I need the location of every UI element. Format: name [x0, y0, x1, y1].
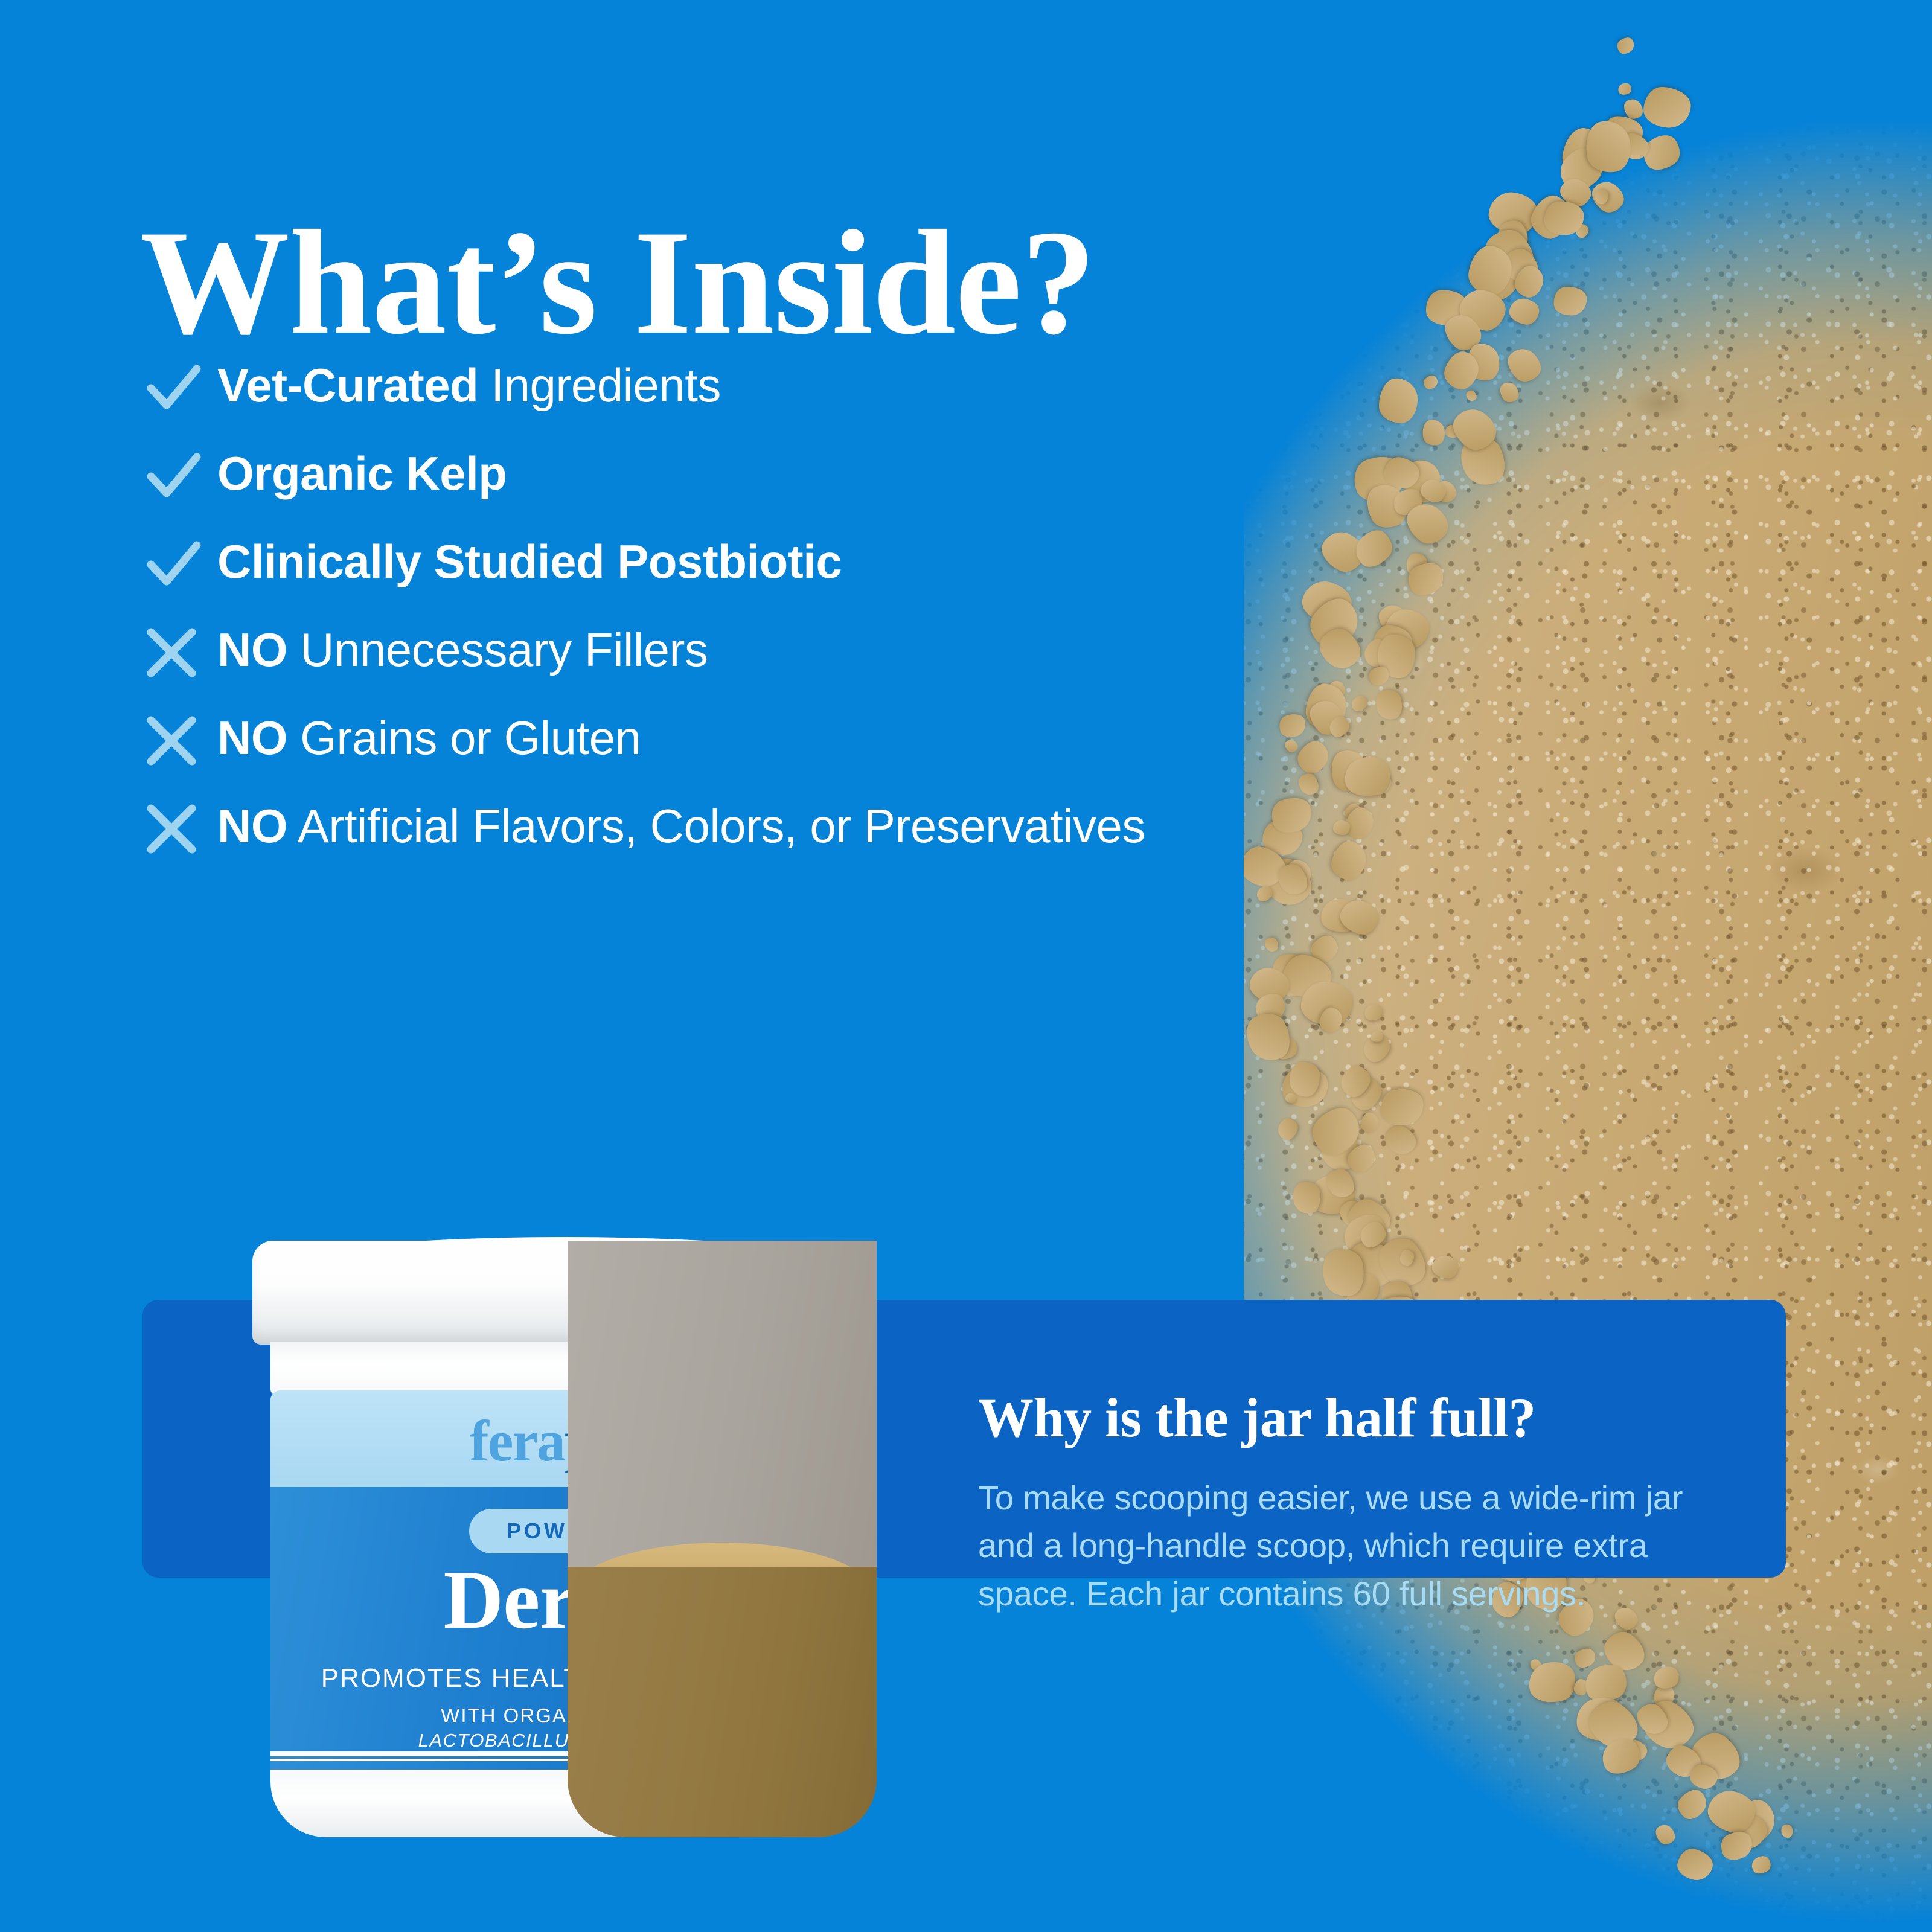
- powder-crumb: [1662, 1741, 1706, 1782]
- powder-crumb: [1524, 1657, 1580, 1707]
- powder-crumb: [1307, 930, 1343, 967]
- powder-crumb: [1582, 117, 1634, 176]
- powder-crumb: [1322, 1164, 1360, 1203]
- powder-crumb: [1381, 455, 1422, 491]
- benefit-label-emphasis: Clinically Studied Postbiotic: [217, 535, 842, 588]
- powder-crumb: [1370, 1030, 1384, 1043]
- powder-crumb: [1326, 713, 1353, 740]
- powder-crumb: [1502, 343, 1547, 388]
- powder-crumb: [1348, 693, 1369, 714]
- cutaway-powder-fill: [568, 1567, 877, 1837]
- powder-crumb: [1276, 1116, 1299, 1142]
- powder-crumb: [1360, 766, 1395, 798]
- powder-crumb: [1732, 1811, 1771, 1853]
- powder-crumb: [1254, 883, 1275, 904]
- powder-crumb: [1262, 935, 1281, 955]
- powder-crumb: [1313, 622, 1367, 676]
- powder-crumb: [1251, 989, 1290, 1025]
- promo-graphic: What’s Inside? Vet-Curated Ingredients O…: [0, 0, 1932, 1932]
- powder-crumb: [1356, 1217, 1391, 1252]
- powder-crumb: [1372, 686, 1406, 723]
- powder-crumb: [1282, 858, 1313, 892]
- powder-crumb: [1367, 530, 1384, 547]
- benefit-row: NO Unnecessary Fillers: [142, 621, 1278, 679]
- powder-crumb: [1244, 1006, 1298, 1068]
- powder-crumb: [1498, 243, 1546, 290]
- powder-crumb: [1420, 417, 1447, 447]
- powder-crumb: [1352, 901, 1366, 913]
- benefit-label-emphasis: Vet-Curated: [217, 359, 478, 412]
- powder-crumb: [1378, 1086, 1427, 1130]
- powder-crumb: [1360, 1112, 1380, 1133]
- powder-crumb: [1382, 606, 1431, 651]
- powder-crumb: [1526, 191, 1576, 244]
- powder-crumb: [1716, 1826, 1756, 1865]
- page-title: What’s Inside?: [140, 208, 1348, 357]
- benefit-label-emphasis: NO: [217, 623, 287, 676]
- powder-crumb: [1596, 1732, 1646, 1780]
- powder-crumb: [1496, 379, 1522, 405]
- powder-crumb: [1467, 252, 1524, 306]
- powder-crumb: [1464, 389, 1479, 403]
- powder-crumb: [1573, 1678, 1589, 1696]
- info-card-text: Why is the jar half full? To make scoopi…: [978, 1389, 1727, 1617]
- powder-crumb: [1285, 1093, 1296, 1103]
- powder-crumb: [1446, 401, 1503, 456]
- powder-crumb: [1704, 1786, 1759, 1836]
- powder-crumb: [1272, 859, 1314, 901]
- powder-crumb: [1453, 430, 1513, 493]
- powder-crumb: [1617, 130, 1652, 162]
- powder-crumb: [1602, 117, 1643, 152]
- check-icon: [142, 444, 217, 502]
- powder-crumb: [1305, 683, 1348, 732]
- powder-crumb: [1389, 484, 1427, 520]
- powder-crumb: [1457, 417, 1501, 459]
- x-icon: [142, 797, 217, 855]
- powder-crumb: [1335, 1195, 1373, 1233]
- powder-crumb: [1632, 1698, 1674, 1740]
- powder-crumb: [1508, 297, 1540, 326]
- powder-crumb: [1651, 1682, 1677, 1710]
- powder-crumb: [1342, 804, 1377, 842]
- brand-logo-part1: fera: [470, 1409, 565, 1473]
- powder-crumb: [1267, 950, 1314, 1000]
- info-card-body: To make scooping easier, we use a wide-r…: [978, 1474, 1727, 1618]
- powder-crumb: [1399, 1249, 1415, 1267]
- powder-crumb: [1614, 34, 1637, 57]
- powder-crumb: [1343, 1139, 1380, 1177]
- powder-crumb: [1456, 286, 1509, 334]
- benefit-label-emphasis: Organic Kelp: [217, 447, 507, 500]
- powder-crumb: [1328, 616, 1342, 629]
- info-card-title: Why is the jar half full?: [978, 1389, 1727, 1447]
- powder-crumb: [1494, 216, 1534, 257]
- powder-crumb: [1361, 635, 1394, 670]
- benefit-row: NO Grains or Gluten: [142, 709, 1278, 767]
- powder-crumb: [1689, 1763, 1719, 1791]
- powder-crumb: [1574, 223, 1589, 240]
- powder-crumb: [1246, 964, 1292, 1006]
- powder-crumb: [1300, 981, 1353, 1026]
- powder-crumb: [1290, 1179, 1323, 1215]
- powder-crumb: [1316, 526, 1370, 578]
- powder-crumb: [1723, 1792, 1783, 1853]
- powder-crumb: [1279, 952, 1335, 1002]
- powder-crumb: [1419, 478, 1448, 504]
- powder-crumb: [1620, 95, 1646, 123]
- powder-crumb: [1302, 590, 1366, 656]
- benefit-label-emphasis: NO: [217, 711, 287, 764]
- powder-crumb: [1379, 379, 1418, 423]
- powder-crumb: [1572, 1645, 1599, 1671]
- powder-crumb: [1320, 1127, 1360, 1172]
- powder-crumb: [1279, 1064, 1331, 1110]
- benefit-label: Vet-Curated Ingredients: [217, 356, 721, 414]
- powder-crumb: [1556, 174, 1596, 211]
- powder-crumb: [1616, 81, 1633, 97]
- powder-crumb: [1399, 497, 1455, 551]
- powder-crumb: [1349, 524, 1399, 574]
- powder-crumb: [1581, 1694, 1646, 1756]
- powder-crumb: [1360, 478, 1413, 535]
- powder-crumb: [1319, 1245, 1370, 1301]
- powder-crumb: [1573, 1695, 1629, 1744]
- powder-crumb: [1295, 770, 1322, 799]
- powder-crumb: [1328, 838, 1370, 884]
- powder-crumb: [1276, 711, 1309, 741]
- powder-crumb: [1365, 662, 1392, 689]
- powder-crumb: [1595, 189, 1608, 205]
- powder-crumb: [1326, 746, 1373, 797]
- powder-crumb: [1438, 308, 1488, 357]
- powder-grain-texture: [1244, 85, 1932, 1932]
- powder-crumb: [1348, 449, 1411, 508]
- powder-crumb: [1559, 126, 1608, 180]
- powder-crumb: [1587, 176, 1629, 217]
- powder-crumb: [1374, 600, 1414, 639]
- powder-crumb: [1476, 221, 1543, 287]
- powder-crumb: [1622, 1738, 1649, 1764]
- powder-crumb: [1561, 143, 1607, 184]
- powder-crumb: [1381, 1121, 1421, 1159]
- powder-crumb: [1445, 424, 1460, 438]
- x-icon: [142, 621, 217, 679]
- powder-crumb: [1643, 86, 1692, 129]
- powder-crumb: [1780, 1824, 1794, 1839]
- powder-crumb: [1362, 1002, 1385, 1023]
- powder-crumb: [1441, 348, 1483, 394]
- benefit-label: Clinically Studied Postbiotic: [217, 533, 842, 590]
- powder-crumb: [1283, 737, 1300, 754]
- powder-crumb: [1326, 678, 1349, 700]
- benefit-row: Clinically Studied Postbiotic: [142, 533, 1278, 590]
- powder-crumb: [1341, 753, 1394, 801]
- powder-crumb: [1651, 1663, 1682, 1692]
- powder-crumb: [1579, 1658, 1633, 1709]
- powder-crumb: [1552, 141, 1610, 199]
- jar-cutaway-fill-level: [568, 1241, 877, 1850]
- check-icon: [142, 533, 217, 590]
- powder-crumb: [1319, 897, 1361, 934]
- powder-crumb: [1528, 1657, 1544, 1673]
- powder-crumb: [1431, 1255, 1459, 1279]
- powder-crumb: [1403, 556, 1449, 601]
- benefit-list: Vet-Curated Ingredients Organic Kelp Cli…: [142, 356, 1278, 885]
- benefit-label: NO Unnecessary Fillers: [217, 621, 708, 679]
- benefit-row: NO Artificial Flavors, Colors, or Preser…: [142, 797, 1278, 855]
- powder-crumb: [1303, 694, 1351, 741]
- powder-crumb: [1637, 129, 1686, 177]
- powder-crumb: [1552, 286, 1588, 317]
- powder-crumb: [1636, 1694, 1701, 1757]
- powder-crumb: [1337, 897, 1382, 938]
- powder-crumb: [1487, 190, 1540, 237]
- powder-crumb: [1425, 288, 1469, 327]
- benefit-label: NO Grains or Gluten: [217, 709, 641, 767]
- powder-crumb: [1270, 1034, 1301, 1063]
- powder-crumb: [1346, 1073, 1386, 1115]
- powder-crumb: [1342, 801, 1364, 824]
- powder-crumb: [1305, 1171, 1358, 1219]
- powder-crumb: [1318, 1005, 1345, 1035]
- powder-crumb: [1512, 263, 1547, 301]
- powder-crumb: [1342, 1194, 1395, 1244]
- powder-crumb: [1371, 1230, 1435, 1296]
- x-icon: [142, 709, 217, 767]
- powder-body: [1244, 85, 1932, 1932]
- powder-crumb: [1375, 633, 1418, 680]
- powder-crumb: [1463, 340, 1503, 383]
- powder-crumb: [1293, 736, 1334, 778]
- powder-crumb: [1372, 624, 1412, 659]
- powder-crumb: [1401, 458, 1443, 505]
- powder-crumb: [1466, 243, 1514, 298]
- check-icon: [142, 356, 217, 414]
- powder-crumb: [1337, 1206, 1395, 1263]
- powder-crumb: [1289, 1061, 1320, 1097]
- powder-crumb: [1305, 1099, 1369, 1164]
- powder-crumb: [1543, 200, 1585, 237]
- benefit-label-emphasis: NO: [217, 799, 287, 852]
- benefit-row: Organic Kelp: [142, 444, 1278, 502]
- benefit-label: Organic Kelp: [217, 444, 507, 502]
- powder-crumb: [1421, 373, 1440, 392]
- powder-crumb: [1406, 552, 1428, 578]
- powder-crumb: [1431, 476, 1460, 506]
- powder-crumb: [1748, 1853, 1774, 1877]
- powder-crumb: [1360, 1030, 1395, 1067]
- powder-crumb: [1298, 577, 1356, 630]
- powder-crumb: [1337, 1062, 1374, 1102]
- powder-crumb: [1675, 1847, 1715, 1883]
- powder-crumb: [1673, 1785, 1712, 1825]
- powder-crumb: [1684, 1725, 1748, 1788]
- powder-crumb: [1346, 1242, 1398, 1287]
- benefit-label: NO Artificial Flavors, Colors, or Preser…: [217, 797, 1145, 855]
- powder-crumb: [1598, 1625, 1652, 1678]
- cutaway-empty-space: [568, 1241, 877, 1576]
- benefit-row: Vet-Curated Ingredients: [142, 356, 1278, 414]
- powder-crumb: [1652, 1821, 1679, 1848]
- powder-crumb: [1333, 820, 1351, 836]
